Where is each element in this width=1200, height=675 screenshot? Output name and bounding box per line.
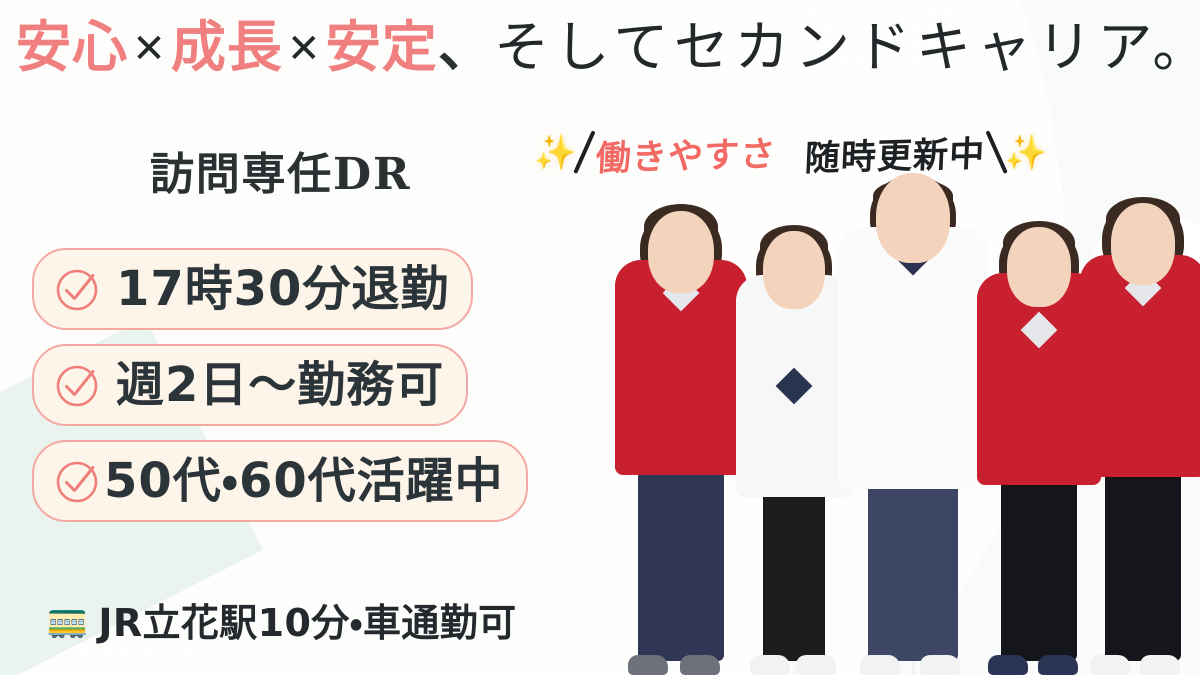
shoe-right [796, 655, 836, 675]
feature-pill-3: 50代・60代活躍中 [32, 440, 528, 522]
legs [763, 483, 825, 661]
access-info: 🚃 JR立花駅10分・車通勤可 [46, 592, 517, 647]
staff-group-photo [596, 186, 1200, 675]
feature-pill-label: 17時30分退勤 [116, 265, 449, 313]
shoe-right [680, 655, 720, 675]
sparkle-icon-left: ✨ [534, 136, 576, 170]
head [1007, 227, 1071, 307]
train-icon: 🚃 [46, 603, 88, 637]
head [648, 211, 714, 293]
shoe-right [920, 655, 960, 675]
legs [868, 461, 958, 661]
shoe-left [860, 655, 900, 675]
feature-pill-label: 週2日〜勤務可 [116, 361, 444, 409]
multiply-icon-2: ✕ [283, 26, 326, 72]
tagline-dark-text: 随時更新中 [799, 125, 990, 181]
circle-check-icon [52, 455, 104, 507]
feature-pill-list: 17時30分退勤 週2日〜勤務可 50代・60代活躍中 [32, 248, 528, 522]
headline-segment-3: 安定 [326, 15, 438, 79]
shoe-left [988, 655, 1028, 675]
legs [638, 446, 724, 661]
legs [1105, 455, 1181, 661]
legs [1001, 463, 1077, 661]
feature-pill-label: 50代・60代活躍中 [104, 457, 504, 505]
shoe-right [1140, 655, 1180, 675]
shoe-right [1038, 655, 1078, 675]
multiply-icon-1: ✕ [128, 26, 171, 72]
update-tagline: ✨ 働きやすさ 随時更新中 ✨ [534, 122, 1047, 184]
shoe-left [1090, 655, 1130, 675]
circle-check-icon [52, 263, 104, 315]
access-text: JR立花駅10分・車通勤可 [98, 592, 516, 647]
headline-segment-1: 安心 [16, 15, 128, 79]
feature-pill-1: 17時30分退勤 [32, 248, 473, 330]
feature-pill-2: 週2日〜勤務可 [32, 344, 468, 426]
head [763, 231, 825, 309]
shoe-left [750, 655, 790, 675]
circle-check-icon [52, 359, 104, 411]
headline-segment-2: 成長 [171, 15, 283, 79]
tagline-pink-text: 働きやすさ [591, 125, 782, 181]
shoe-left [628, 655, 668, 675]
headline-tail: そしてセカンドキャリア。 [494, 15, 1200, 79]
sparkle-icon-right: ✨ [1005, 136, 1047, 170]
headline-comma: 、 [438, 15, 494, 79]
recruitment-banner: 安心✕成長✕安定、そしてセカンドキャリア。 訪問専任DR ✨ 働きやすさ 随時更… [0, 0, 1200, 675]
head [1111, 203, 1175, 285]
page-title: 安心✕成長✕安定、そしてセカンドキャリア。 [16, 20, 1196, 75]
job-position-subtitle: 訪問専任DR [150, 138, 411, 202]
head [876, 173, 950, 263]
